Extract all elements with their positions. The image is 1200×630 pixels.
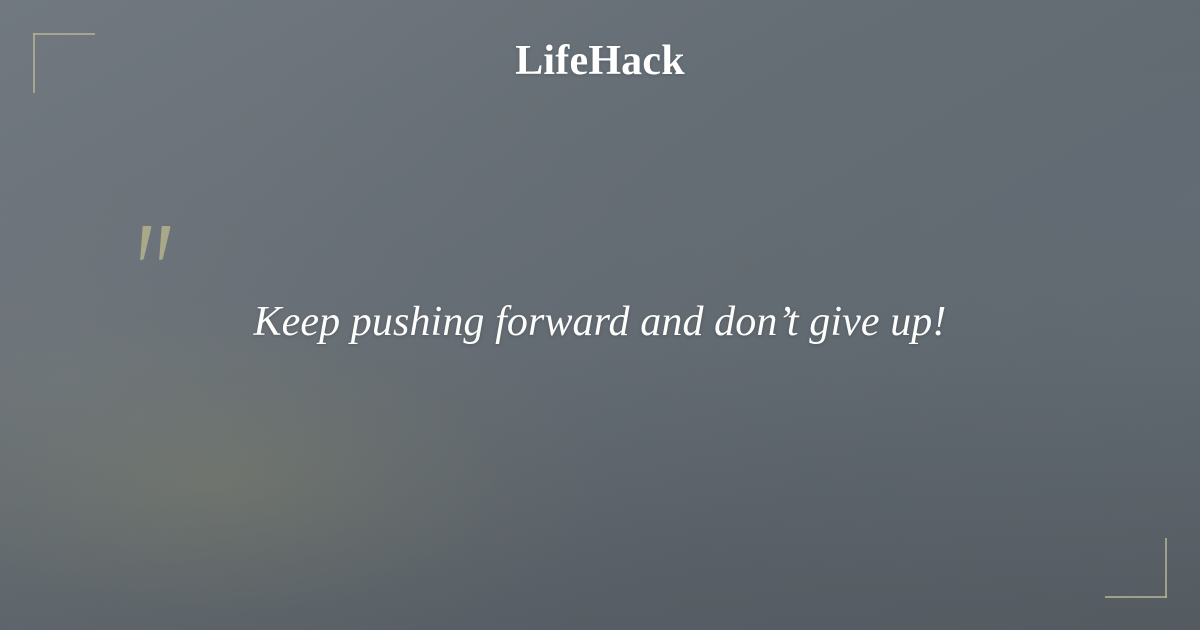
quote-container: Keep pushing forward and don’t give up!	[0, 296, 1200, 349]
corner-bracket-horizontal-bar	[1105, 596, 1167, 598]
brand-logo: LifeHack	[0, 38, 1200, 85]
quote-card: LifeHack Keep pushing forward and don’t …	[0, 0, 1200, 630]
corner-bracket-horizontal-bar	[33, 33, 95, 35]
corner-bracket-vertical-bar	[1165, 538, 1167, 598]
quote-text: Keep pushing forward and don’t give up!	[90, 296, 1110, 349]
quotation-mark-stroke-left	[135, 226, 151, 260]
quotation-mark-icon	[128, 196, 198, 276]
quotation-mark-stroke-right	[154, 226, 170, 260]
corner-bracket-bottom-right-icon	[1105, 538, 1167, 598]
